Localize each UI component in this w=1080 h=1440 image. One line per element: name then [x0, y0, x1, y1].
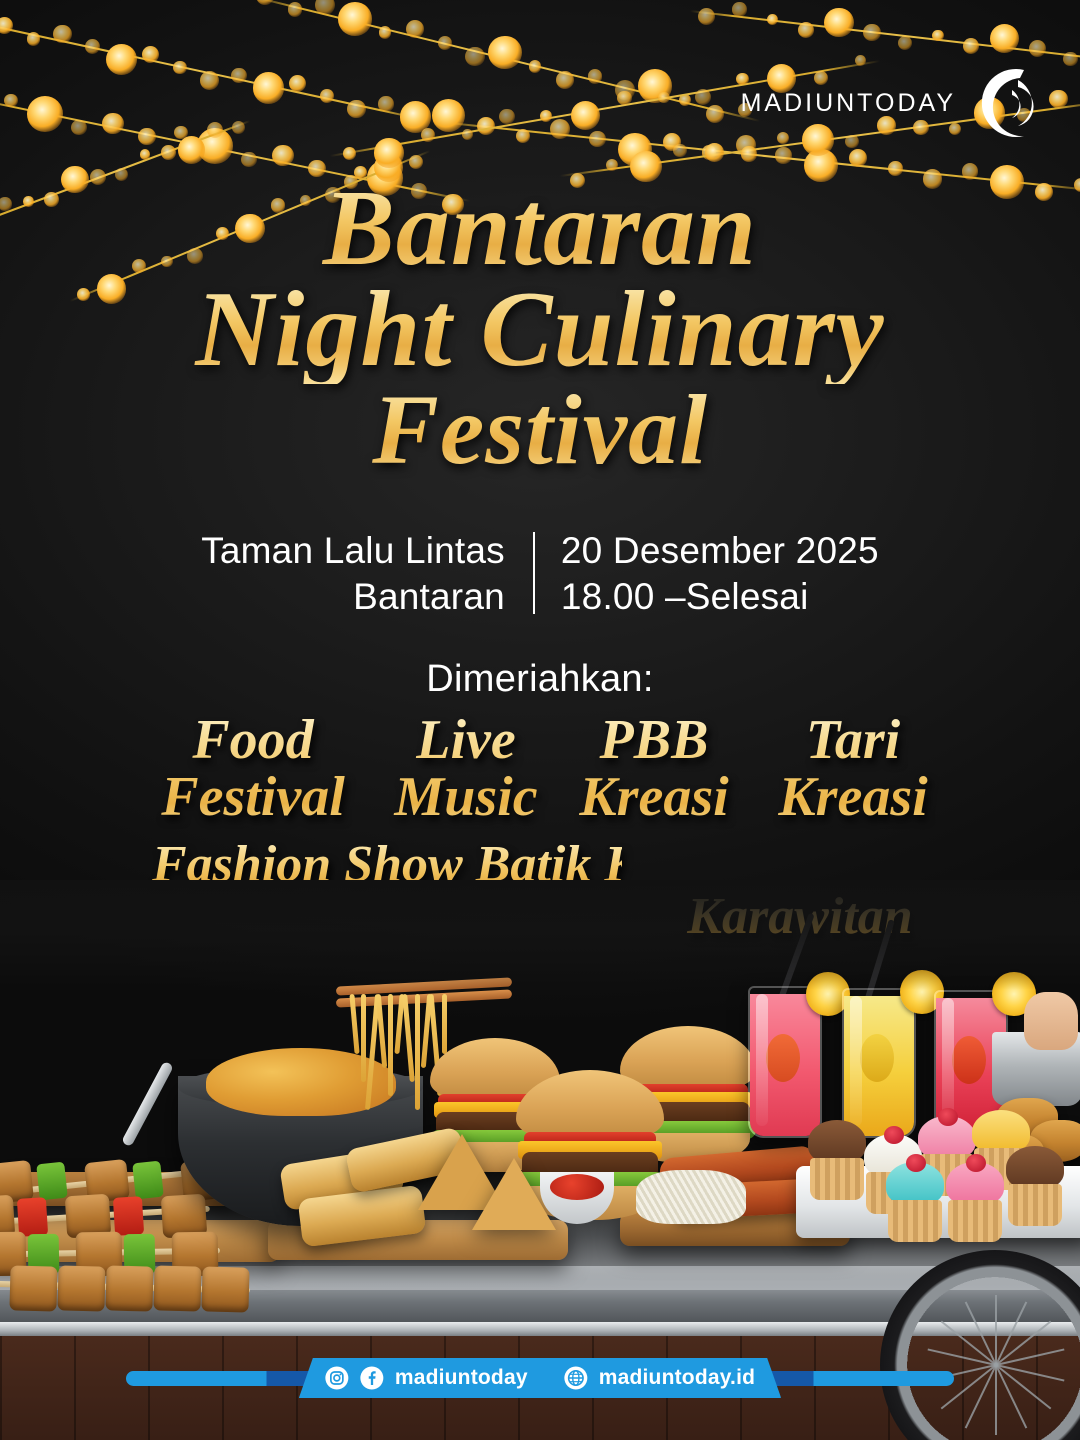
logo-wordmark: MADIUNTODAY — [741, 89, 956, 118]
hand — [1024, 992, 1078, 1050]
act-line-1: Live — [378, 712, 554, 769]
poster-canvas: MADIUNTODAY Bantaran Night Culinary Fest… — [0, 0, 1080, 1440]
swirl-logo-icon — [962, 60, 1040, 146]
title-line-3: Festival — [0, 380, 1080, 479]
act-tari-kreasi: Tari Kreasi — [754, 712, 952, 826]
act-food-festival: Food Festival — [128, 712, 378, 826]
act-line-1: Food — [128, 712, 378, 769]
event-date: 20 Desember 2025 — [561, 528, 879, 574]
serving-spoon — [121, 1061, 174, 1147]
act-line-1: Tari — [754, 712, 952, 769]
act-line-1: PBB — [554, 712, 754, 769]
globe-icon[interactable] — [564, 1366, 588, 1390]
act-line-2: Kreasi — [754, 769, 952, 826]
chili-sauce — [550, 1174, 604, 1200]
footer-bar: madiuntoday madiuntoday.id — [0, 1358, 1080, 1398]
act-line-2: Kreasi — [554, 769, 754, 826]
instagram-icon[interactable] — [325, 1366, 349, 1390]
drink-yellow — [842, 988, 916, 1138]
venue-block: Taman Lalu Lintas Bantaran — [201, 528, 533, 620]
facebook-icon[interactable] — [360, 1366, 384, 1390]
brand-logo: MADIUNTODAY — [741, 60, 1040, 146]
act-line-2: Music — [378, 769, 554, 826]
coleslaw — [636, 1170, 746, 1224]
title-line-1: Bantaran — [0, 176, 1080, 283]
act-live-music: Live Music — [378, 712, 554, 826]
datetime-block: 20 Desember 2025 18.00 –Selesai — [535, 528, 879, 620]
event-info-row: Taman Lalu Lintas Bantaran 20 Desember 2… — [0, 528, 1080, 620]
act-line-2: Festival — [128, 769, 378, 826]
event-time: 18.00 –Selesai — [561, 574, 879, 620]
poster-title: Bantaran Night Culinary Festival — [0, 176, 1080, 479]
lineup-acts-row: Food Festival Live Music PBB Kreasi Tari… — [0, 712, 1080, 826]
footer-social-panel: madiuntoday madiuntoday.id — [299, 1358, 781, 1398]
title-line-2: Night Culinary — [0, 277, 1080, 384]
website-url[interactable]: madiuntoday.id — [599, 1366, 755, 1390]
lineup-heading: Dimeriahkan: — [0, 658, 1080, 701]
venue-line-2: Bantaran — [201, 574, 505, 620]
scene-fade-overlay — [0, 880, 1080, 990]
social-handle[interactable]: madiuntoday — [395, 1366, 528, 1390]
venue-line-1: Taman Lalu Lintas — [201, 528, 505, 574]
act-pbb-kreasi: PBB Kreasi — [554, 712, 754, 826]
